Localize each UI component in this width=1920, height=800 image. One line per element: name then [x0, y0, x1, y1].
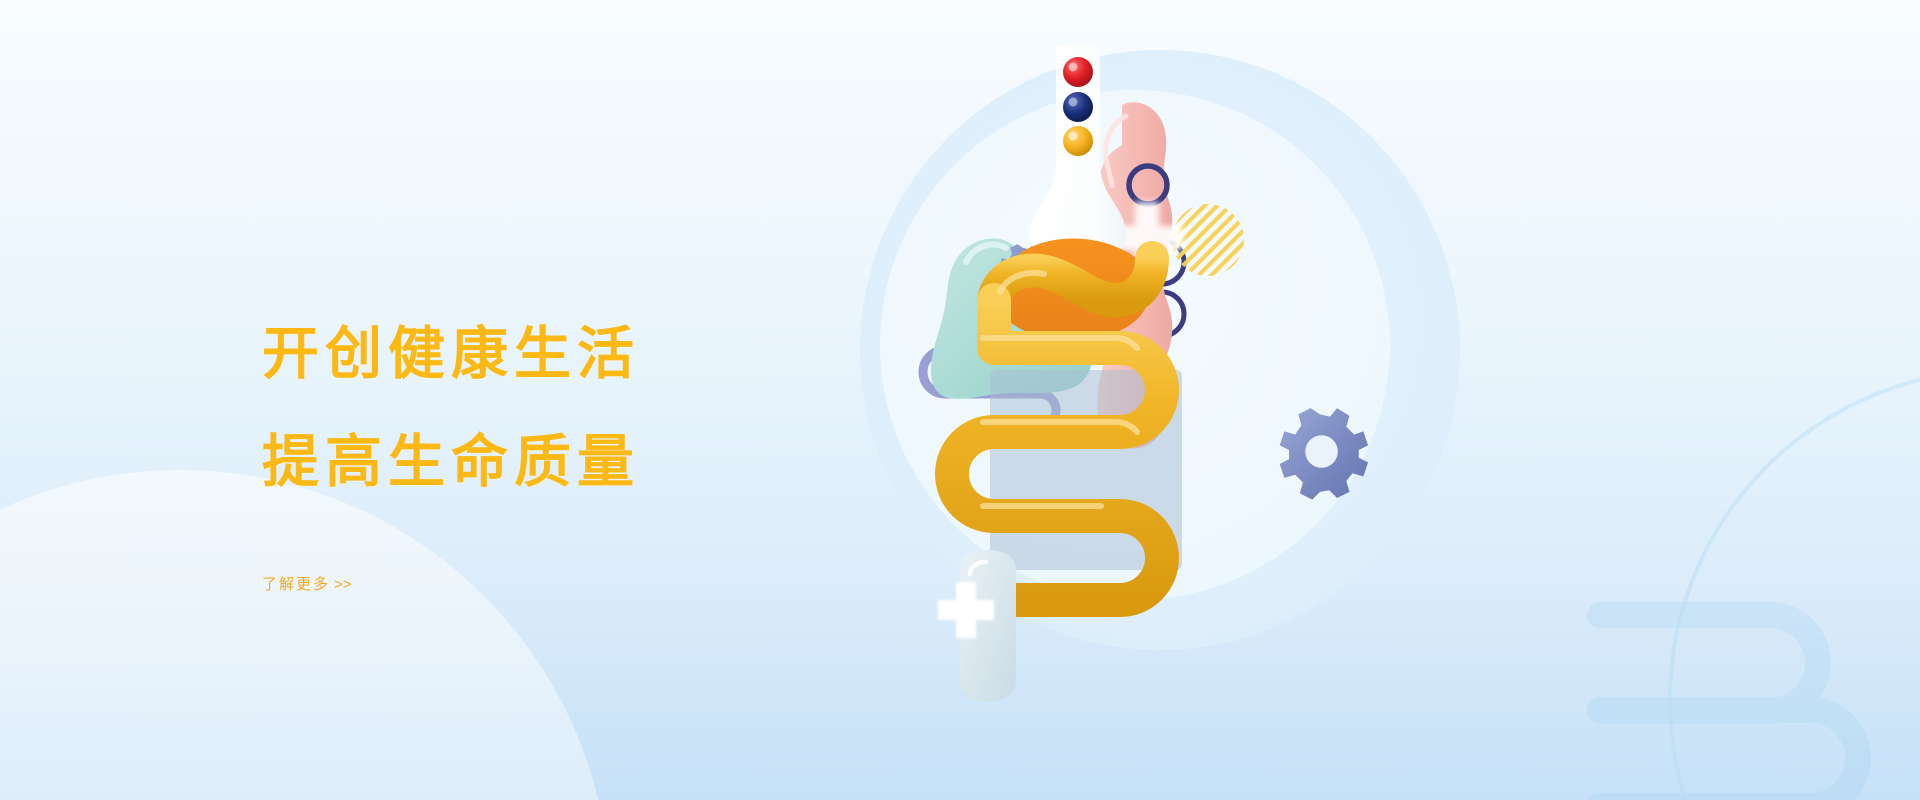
- illustration: [860, 0, 1560, 800]
- tube-ball-amber-icon: [1063, 126, 1093, 156]
- headline-line-2: 提高生命质量: [262, 408, 822, 516]
- hero-banner: 开创健康生活 提高生命质量 了解更多>>: [0, 0, 1920, 800]
- bg-faint-serpentine: [1600, 615, 1858, 800]
- tube-ball-red-icon: [1063, 57, 1093, 87]
- tube-ball-navy-icon: [1063, 92, 1093, 122]
- headline-line-1: 开创健康生活: [262, 300, 822, 408]
- learn-more-link[interactable]: 了解更多>>: [262, 574, 352, 596]
- chevron-right-icon: >>: [334, 576, 352, 593]
- hero-text-block: 开创健康生活 提高生命质量 了解更多>>: [262, 300, 822, 596]
- bg-arc-right: [1670, 370, 1920, 800]
- learn-more-label: 了解更多: [262, 576, 330, 593]
